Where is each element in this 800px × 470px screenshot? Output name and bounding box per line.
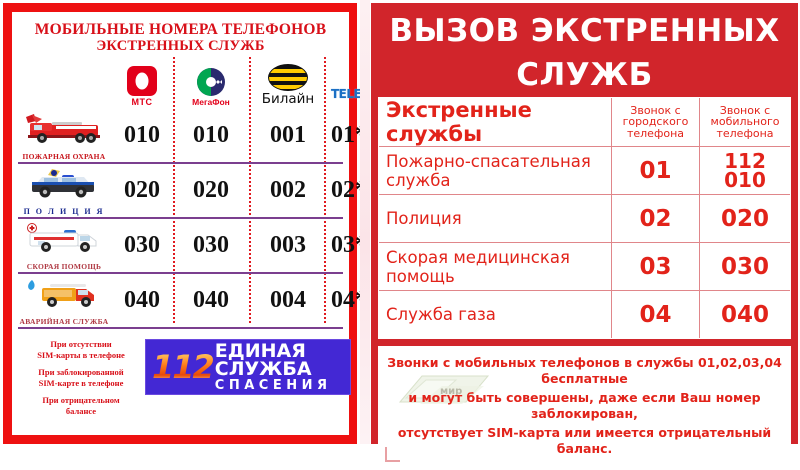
cell-service-name: Скорая медицинская помощь xyxy=(379,243,611,290)
badge-number-112: 112 xyxy=(152,351,213,383)
beeline-logo-icon xyxy=(268,64,308,91)
header-services-label: Экстренные службы xyxy=(386,98,604,146)
service-label: ПОЖАРНАЯ ОХРАНА xyxy=(18,152,110,161)
left-conditions-notes: При отсутствии SIM-карты в телефоне При … xyxy=(20,339,142,423)
header-mobile-label: Звонок с мобильного телефона xyxy=(711,105,780,140)
table-row: ПОЖАРНАЯ ОХРАНА 010 010 001 01* xyxy=(18,109,343,164)
panel-divider-strip xyxy=(360,0,370,444)
header-city-line3: телефона xyxy=(627,127,684,140)
cell-mobile-number: 020 xyxy=(699,195,790,242)
right-panel-emergency-call: ВЫЗОВ ЭКСТРЕННЫХ СЛУЖБ Экстренные службы… xyxy=(371,3,798,444)
badge-line2: СПАСЕНИЯ xyxy=(215,378,350,393)
right-services-table: Экстренные службы Звонок с городского те… xyxy=(378,97,791,339)
cell-city-number: 04 xyxy=(611,291,699,338)
header-cell-services: Экстренные службы xyxy=(379,98,611,146)
service-name-label: Служба газа xyxy=(386,305,496,324)
cell-mobile-number: 030 xyxy=(699,243,790,290)
city-number: 04 xyxy=(639,304,671,326)
mobile-number: 030 xyxy=(721,256,769,278)
service-name-label: Пожарно-спасательная служба xyxy=(386,152,604,190)
left-panel-inner: МОБИЛЬНЫЕ НОМЕРА ТЕЛЕФОНОВ ЭКСТРЕННЫХ СЛ… xyxy=(12,12,349,435)
cell-service-name: Полиция xyxy=(379,195,611,242)
note-line-3: отсутствует SIM-карта или имеется отрица… xyxy=(386,425,783,457)
left-panel-title: МОБИЛЬНЫЕ НОМЕРА ТЕЛЕФОНОВ ЭКСТРЕННЫХ СЛ… xyxy=(18,21,343,55)
cell-service-name: Служба газа xyxy=(379,291,611,338)
service-name-label: Скорая медицинская помощь xyxy=(386,248,604,286)
mobile-number-line2: 010 xyxy=(724,171,766,190)
mobile-number: 020 xyxy=(721,208,769,230)
cell-megafon: 020 xyxy=(175,173,247,207)
service-label: СКОРАЯ ПОМОЩЬ xyxy=(18,262,110,271)
right-panel-title: ВЫЗОВ ЭКСТРЕННЫХ СЛУЖБ xyxy=(378,9,791,97)
header-cell-city-phone: Звонок с городского телефона xyxy=(611,98,699,146)
cell-megafon: 040 xyxy=(175,283,247,317)
cell-megafon: 010 xyxy=(175,118,247,152)
table-row: АВАРИЙНАЯ СЛУЖБА 040 040 004 04* xyxy=(18,274,343,329)
operator-label-mts: МТС xyxy=(113,97,171,107)
left-bottom-section: При отсутствии SIM-карты в телефоне При … xyxy=(18,339,343,417)
fire-truck-icon: ПОЖАРНАЯ ОХРАНА xyxy=(18,109,110,162)
cell-city-number: 01 xyxy=(611,147,699,194)
table-header-row: Экстренные службы Звонок с городского те… xyxy=(379,98,790,146)
table-row: Полиция 02 020 xyxy=(379,194,790,242)
left-title-line2: ЭКСТРЕННЫХ СЛУЖБ xyxy=(18,38,343,55)
note-3-line2: балансе xyxy=(66,406,96,416)
operator-megafon: МегаФон xyxy=(175,68,247,107)
cell-beeline: 004 xyxy=(251,283,325,317)
cell-beeline: 002 xyxy=(251,173,325,207)
infographic-canvas: МОБИЛЬНЫЕ НОМЕРА ТЕЛЕФОНОВ ЭКСТРЕННЫХ СЛ… xyxy=(0,0,800,470)
left-panel-mobile-numbers: МОБИЛЬНЫЕ НОМЕРА ТЕЛЕФОНОВ ЭКСТРЕННЫХ СЛ… xyxy=(3,3,357,444)
mobile-number: 112 010 xyxy=(724,152,766,190)
service-label: П О Л И Ц И Я xyxy=(18,207,110,216)
operator-label-megafon: МегаФон xyxy=(175,97,247,107)
cell-megafon: 030 xyxy=(175,228,247,262)
cell-beeline: 001 xyxy=(251,118,325,152)
mts-logo-icon xyxy=(127,66,157,96)
cell-mobile-number: 040 xyxy=(699,291,790,338)
header-mobile-line3: телефона xyxy=(716,127,773,140)
cell-mts: 010 xyxy=(113,118,171,152)
cell-city-number: 03 xyxy=(611,243,699,290)
table-row: Служба газа 04 040 xyxy=(379,290,790,338)
city-number: 03 xyxy=(639,256,671,278)
operator-beeline: Билайн xyxy=(251,64,325,107)
note-2-line2: SIM-карте в телефоне xyxy=(39,378,124,388)
gas-service-truck-icon: АВАРИЙНАЯ СЛУЖБА xyxy=(18,274,110,327)
table-row: СКОРАЯ ПОМОЩЬ 030 030 003 03* xyxy=(18,219,343,274)
police-car-icon: П О Л И Ц И Я xyxy=(18,164,110,217)
cell-beeline: 003 xyxy=(251,228,325,262)
left-numbers-table: ПОЖАРНАЯ ОХРАНА 010 010 001 01* xyxy=(18,109,343,329)
header-cell-mobile-phone: Звонок с мобильного телефона xyxy=(699,98,790,146)
operator-logo-row: МТС МегаФон Билайн TELE2 xyxy=(18,61,343,107)
mobile-number: 040 xyxy=(721,304,769,326)
ambulance-glyph xyxy=(22,223,106,255)
table-row: Пожарно-спасательная служба 01 112 010 xyxy=(379,146,790,194)
note-line-2: и могут быть совершены, даже если Ваш но… xyxy=(386,390,783,422)
cell-mobile-number: 112 010 xyxy=(699,147,790,194)
city-number: 02 xyxy=(639,208,671,230)
header-city-label: Звонок с городского телефона xyxy=(623,105,689,140)
megafon-logo-icon xyxy=(197,68,225,96)
police-car-glyph xyxy=(22,168,106,200)
operator-mts: МТС xyxy=(113,66,171,107)
note-3: При отрицательном балансе xyxy=(20,395,142,416)
note-2: При заблокированной SIM-карте в телефоне xyxy=(20,367,142,388)
service-name-label: Полиция xyxy=(386,209,462,228)
cell-city-number: 02 xyxy=(611,195,699,242)
table-row: Скорая медицинская помощь 03 030 xyxy=(379,242,790,290)
note-3-line1: При отрицательном xyxy=(42,395,119,405)
badge-line1: ЕДИНАЯ СЛУЖБА xyxy=(215,342,350,378)
cell-mts: 020 xyxy=(113,173,171,207)
note-1: При отсутствии SIM-карты в телефоне xyxy=(20,339,142,360)
emergency-112-badge: 112 ЕДИНАЯ СЛУЖБА СПАСЕНИЯ xyxy=(145,339,351,395)
cell-mts: 040 xyxy=(113,283,171,317)
note-line-1: Звонки с мобильных телефонов в службы 01… xyxy=(386,355,783,387)
ambulance-icon: СКОРАЯ ПОМОЩЬ xyxy=(18,219,110,272)
note-2-line1: При заблокированной xyxy=(38,367,123,377)
operator-label-beeline: Билайн xyxy=(251,91,325,107)
megafon-dots-icon xyxy=(212,80,222,84)
cell-mts: 030 xyxy=(113,228,171,262)
right-panel-note: мир Звонки с мобильных телефонов в служб… xyxy=(378,346,791,470)
note-1-line1: При отсутствии xyxy=(50,339,111,349)
cell-service-name: Пожарно-спасательная служба xyxy=(379,147,611,194)
note-1-line2: SIM-карты в телефоне xyxy=(37,350,125,360)
gas-truck-glyph xyxy=(22,278,106,310)
table-row: П О Л И Ц И Я 020 020 002 02* xyxy=(18,164,343,219)
city-number: 01 xyxy=(639,160,671,182)
fire-truck-glyph xyxy=(22,113,106,145)
left-title-line1: МОБИЛЬНЫЕ НОМЕРА ТЕЛЕФОНОВ xyxy=(18,21,343,38)
service-label: АВАРИЙНАЯ СЛУЖБА xyxy=(18,317,110,326)
badge-text: ЕДИНАЯ СЛУЖБА СПАСЕНИЯ xyxy=(215,342,350,393)
